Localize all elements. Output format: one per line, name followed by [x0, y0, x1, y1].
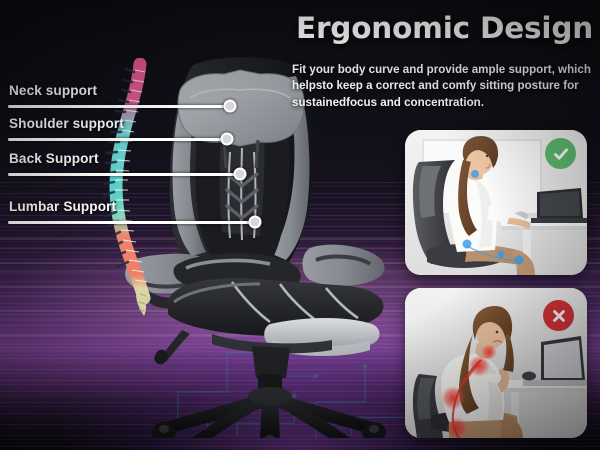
leader-endpoint-dot	[224, 100, 237, 113]
leader-line	[8, 221, 255, 224]
callout-shoulder-support: Shoulder support	[0, 117, 124, 131]
spine-diagram	[94, 58, 166, 318]
leader-endpoint-dot	[221, 133, 234, 146]
callout-neck-support: Neck support	[0, 84, 97, 98]
photo-incorrect-posture	[405, 288, 587, 438]
photo-correct-posture	[405, 130, 587, 275]
product-feature-banner: Neck support Shoulder support Back Suppo…	[0, 0, 600, 450]
leader-endpoint-dot	[249, 216, 262, 229]
callout-label: Shoulder support	[0, 117, 124, 131]
check-icon	[545, 138, 576, 169]
leader-line	[8, 173, 240, 176]
cross-icon	[543, 300, 574, 331]
callout-label: Neck support	[0, 84, 97, 98]
leader-line	[8, 138, 227, 141]
page-title: Ergonomic Design	[296, 14, 592, 44]
description-paragraph: Fit your body curve and provide ample su…	[292, 62, 594, 111]
callout-back-support: Back Support	[0, 152, 99, 166]
callout-label: Back Support	[0, 152, 99, 166]
callout-lumbar-support: Lumbar Support	[0, 200, 116, 214]
leader-endpoint-dot	[234, 168, 247, 181]
callout-label: Lumbar Support	[0, 200, 116, 214]
leader-line	[8, 105, 230, 108]
